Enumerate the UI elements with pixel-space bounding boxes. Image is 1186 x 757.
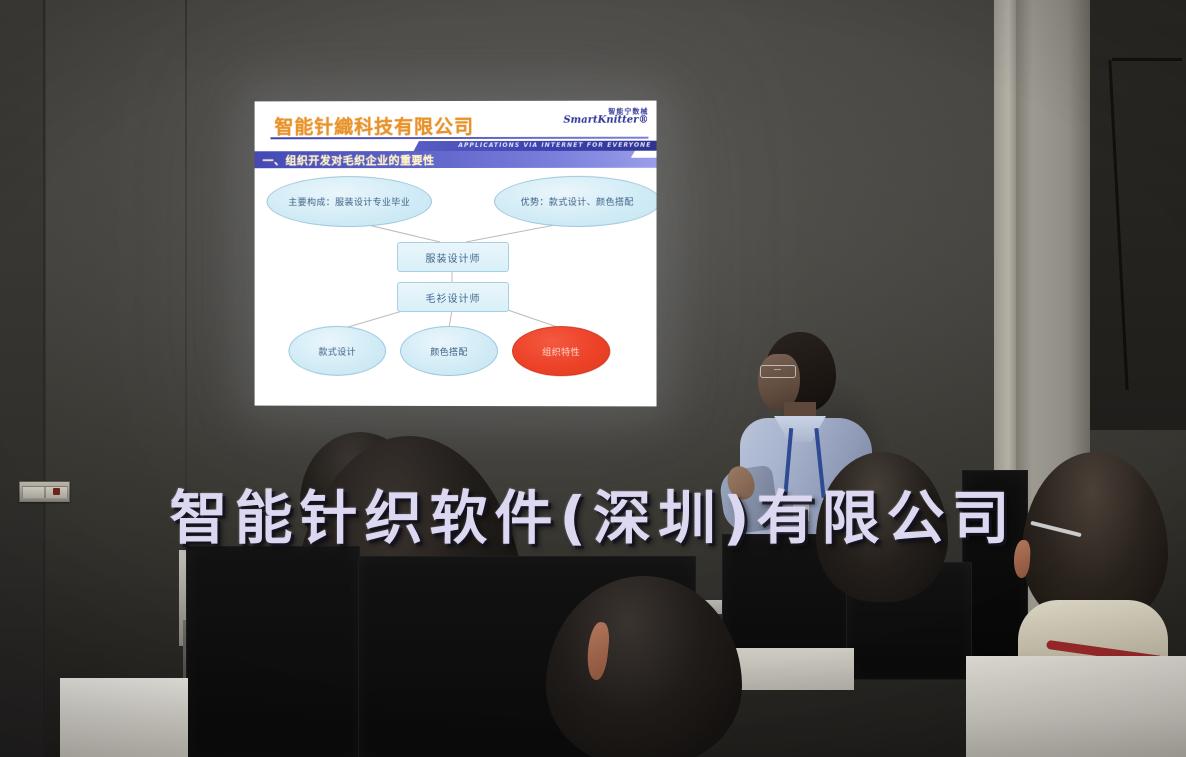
slide-section-bar: 一、组织开发对毛织企业的重要性 bbox=[255, 151, 657, 169]
slide-title-rule bbox=[271, 137, 649, 140]
doorway-dark-area bbox=[1090, 0, 1186, 430]
desk-right bbox=[966, 656, 1186, 757]
slide-tagline-text: APPLICATIONS VIA INTERNET FOR EVERYONE bbox=[458, 142, 651, 149]
diagram-node-top-right: 优势：款式设计、颜色搭配 bbox=[494, 176, 657, 227]
outlet-socket-left bbox=[22, 486, 45, 499]
slide-title: 智能针織科技有限公司 bbox=[274, 112, 474, 139]
diagram-node-style-design: 款式设计 bbox=[288, 326, 386, 376]
desk-left bbox=[60, 678, 188, 757]
projected-slide: 智能针織科技有限公司 智能宁数械 SmartKnitter® APPLICATI… bbox=[255, 101, 657, 407]
diagram-node-color-matching: 颜色搭配 bbox=[400, 326, 498, 376]
logo-english-text: SmartKnitter® bbox=[563, 116, 648, 127]
slide-diagram: 主要构成：服装设计专业毕业 优势：款式设计、颜色搭配 服装设计师 毛衫设计师 款… bbox=[255, 168, 657, 407]
presenter-glasses bbox=[760, 365, 796, 378]
presentation-photo: 智能针織科技有限公司 智能宁数械 SmartKnitter® APPLICATI… bbox=[0, 0, 1186, 757]
outlet-indicator bbox=[53, 488, 60, 495]
monitor-front-left bbox=[186, 546, 360, 757]
smartknitter-logo: 智能宁数械 SmartKnitter® bbox=[563, 109, 648, 127]
diagram-node-sweater-designer: 毛衫设计师 bbox=[397, 282, 509, 312]
diagram-node-top-left: 主要构成：服装设计专业毕业 bbox=[267, 176, 432, 227]
diagram-node-fashion-designer: 服装设计师 bbox=[397, 242, 509, 272]
wall-seam-mid bbox=[185, 0, 187, 545]
wall-left-dark-panel bbox=[0, 0, 46, 757]
wall-seam-left bbox=[43, 0, 45, 757]
diagram-node-structure-property: 组织特性 bbox=[512, 326, 610, 376]
slide-section-heading: 一、组织开发对毛织企业的重要性 bbox=[263, 152, 435, 168]
door-frame-line-horizontal bbox=[1112, 58, 1182, 61]
presenter-badge bbox=[792, 498, 810, 522]
slide-canvas: 智能针織科技有限公司 智能宁数械 SmartKnitter® APPLICATI… bbox=[255, 101, 657, 407]
wall-outlet-plate bbox=[19, 481, 70, 502]
